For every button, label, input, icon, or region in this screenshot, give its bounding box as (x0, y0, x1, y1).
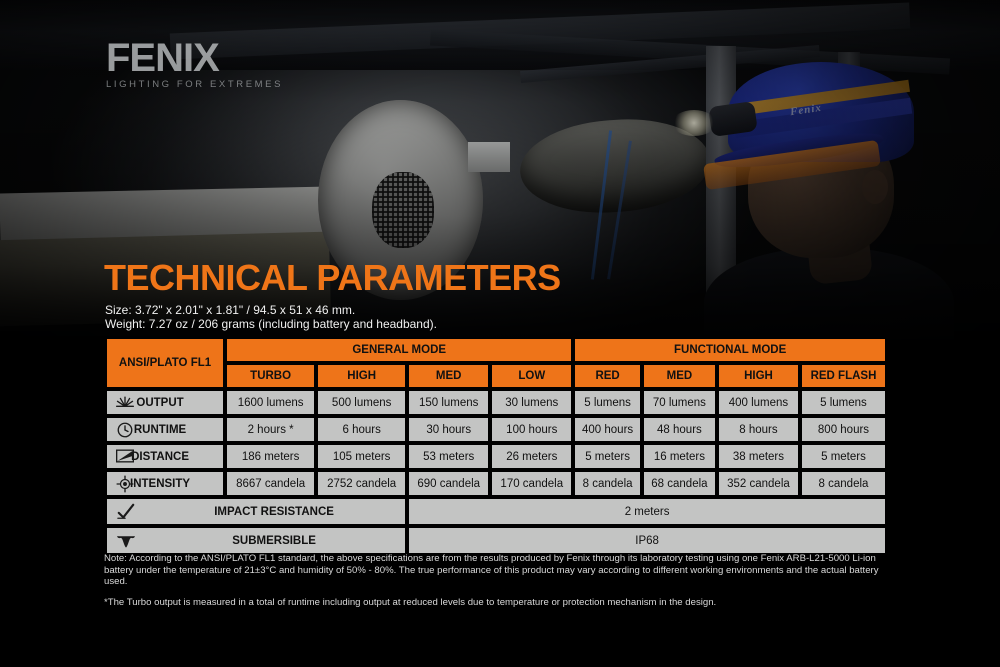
cell-distance-red-flash: 5 meters (801, 444, 886, 469)
row-label-text: IMPACT RESISTANCE (214, 506, 334, 518)
cell-runtime-turbo: 2 hours * (226, 417, 315, 442)
cell-distance-red: 5 meters (574, 444, 641, 469)
column-header-turbo: TURBO (226, 364, 315, 388)
cell-intensity-red-flash: 8 candela (801, 471, 886, 496)
cell-output-med: 150 lumens (408, 390, 489, 415)
cell-distance-low: 26 meters (491, 444, 572, 469)
spec-table: ANSI/PLATO FL1 GENERAL MODE FUNCTIONAL M… (104, 336, 888, 556)
cell-output-turbo: 1600 lumens (226, 390, 315, 415)
cell-distance-red-med: 16 meters (643, 444, 716, 469)
column-header-red-high: HIGH (718, 364, 799, 388)
table-row: OUTPUT 1600 lumens 500 lumens 150 lumens… (106, 390, 886, 415)
water-splash-icon (115, 532, 137, 550)
cell-intensity-low: 170 candela (491, 471, 572, 496)
cell-runtime-red-high: 8 hours (718, 417, 799, 442)
cell-runtime-red-med: 48 hours (643, 417, 716, 442)
cell-output-red-flash: 5 lumens (801, 390, 886, 415)
ansi-standard-label: ANSI/PLATO FL1 (106, 338, 224, 388)
row-label-text: RUNTIME (134, 424, 186, 436)
row-label-output: OUTPUT (106, 390, 224, 415)
column-header-red: RED (574, 364, 641, 388)
column-header-med: MED (408, 364, 489, 388)
row-label-text: OUTPUT (136, 397, 183, 409)
light-burst-icon (115, 394, 135, 412)
cell-distance-high: 105 meters (317, 444, 406, 469)
cell-intensity-red: 8 candela (574, 471, 641, 496)
row-label-text: DISTANCE (131, 451, 189, 463)
size-line: Size: 3.72" x 2.01" x 1.81" / 94.5 x 51 … (105, 303, 437, 317)
cell-submersible-value: IP68 (408, 527, 886, 554)
intensity-icon (115, 475, 135, 493)
cell-runtime-red-flash: 800 hours (801, 417, 886, 442)
row-label-distance: DISTANCE (106, 444, 224, 469)
table-row: DISTANCE 186 meters 105 meters 53 meters… (106, 444, 886, 469)
cell-distance-med: 53 meters (408, 444, 489, 469)
cell-runtime-high: 6 hours (317, 417, 406, 442)
row-label-impact-resistance: IMPACT RESISTANCE (106, 498, 406, 525)
cell-output-red: 5 lumens (574, 390, 641, 415)
table-row: IMPACT RESISTANCE 2 meters (106, 498, 886, 525)
table-row: SUBMERSIBLE IP68 (106, 527, 886, 554)
table-row: INTENSITY 8667 candela 2752 candela 690 … (106, 471, 886, 496)
clock-icon (115, 421, 135, 439)
fenix-logo: FENIX LIGHTING FOR EXTREMES (106, 38, 306, 90)
cell-intensity-red-high: 352 candela (718, 471, 799, 496)
cell-intensity-red-med: 68 candela (643, 471, 716, 496)
logo-tagline: LIGHTING FOR EXTREMES (106, 79, 306, 90)
distance-icon (115, 448, 135, 466)
column-header-low: LOW (491, 364, 572, 388)
cell-distance-red-high: 38 meters (718, 444, 799, 469)
column-header-high: HIGH (317, 364, 406, 388)
column-header-red-flash: RED FLASH (801, 364, 886, 388)
note-ansi-standard: Note: According to the ANSI/PLATO FL1 st… (104, 553, 894, 588)
product-spec-page: Fenix FENIX LIGHTING FOR EXTREMES TECHNI… (0, 0, 1000, 667)
cell-impact-resistance-value: 2 meters (408, 498, 886, 525)
cell-output-low: 30 lumens (491, 390, 572, 415)
table-group-header-row: ANSI/PLATO FL1 GENERAL MODE FUNCTIONAL M… (106, 338, 886, 362)
column-header-red-med: MED (643, 364, 716, 388)
row-label-intensity: INTENSITY (106, 471, 224, 496)
page-title: TECHNICAL PARAMETERS (104, 257, 561, 299)
cell-runtime-med: 30 hours (408, 417, 489, 442)
row-label-runtime: RUNTIME (106, 417, 224, 442)
note-turbo-runtime: *The Turbo output is measured in a total… (104, 597, 894, 609)
logo-wordmark: FENIX (106, 38, 306, 78)
group-header-functional: FUNCTIONAL MODE (574, 338, 886, 362)
cell-distance-turbo: 186 meters (226, 444, 315, 469)
row-label-submersible: SUBMERSIBLE (106, 527, 406, 554)
cell-runtime-low: 100 hours (491, 417, 572, 442)
table-row: RUNTIME 2 hours * 6 hours 30 hours 100 h… (106, 417, 886, 442)
cell-output-red-high: 400 lumens (718, 390, 799, 415)
size-weight-block: Size: 3.72" x 2.01" x 1.81" / 94.5 x 51 … (105, 303, 437, 331)
cell-output-red-med: 70 lumens (643, 390, 716, 415)
cell-runtime-red: 400 hours (574, 417, 641, 442)
group-header-general: GENERAL MODE (226, 338, 572, 362)
impact-check-icon (115, 503, 137, 521)
cell-output-high: 500 lumens (317, 390, 406, 415)
cell-intensity-med: 690 candela (408, 471, 489, 496)
weight-line: Weight: 7.27 oz / 206 grams (including b… (105, 317, 437, 331)
row-label-text: SUBMERSIBLE (232, 535, 316, 547)
footnotes: Note: According to the ANSI/PLATO FL1 st… (104, 553, 894, 608)
cell-intensity-high: 2752 candela (317, 471, 406, 496)
row-label-text: INTENSITY (130, 478, 190, 490)
cell-intensity-turbo: 8667 candela (226, 471, 315, 496)
